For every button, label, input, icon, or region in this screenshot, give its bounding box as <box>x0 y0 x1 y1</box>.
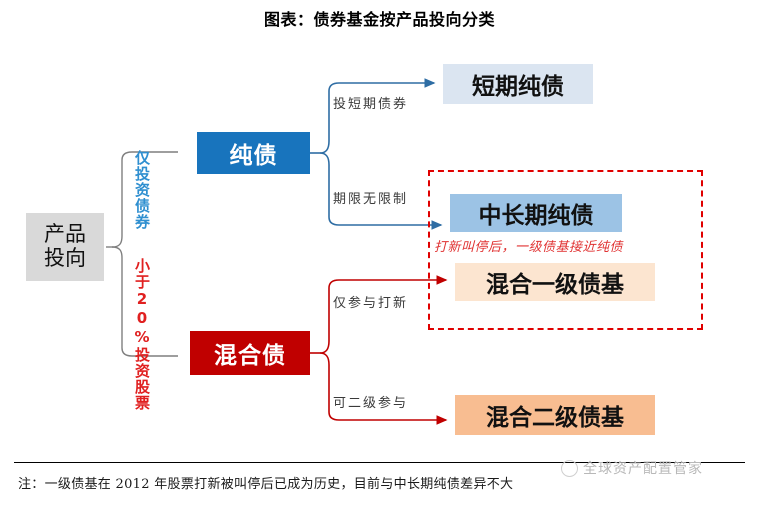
node-short-term-pure-bond[interactable]: 短期纯债 <box>443 64 593 104</box>
edge-label-ipo-participation-only: 仅参与打新 <box>333 292 408 311</box>
footnote-text: 注：一级债基在 2012 年股票打新被叫停后已成为历史，目前与中长期纯债差异不大 <box>18 473 513 492</box>
watermark: 全球资产配置管家 <box>561 458 703 478</box>
diagram-canvas: 图表：债券基金按产品投向分类 产品 投向 <box>0 0 759 506</box>
watermark-label: 全球资产配置管家 <box>583 458 703 478</box>
edge-label-bond-only: 仅投资债券 <box>132 150 153 230</box>
edge-label-equity-under-20: 小于20%投资股票 <box>132 258 153 411</box>
node-mixed-tier2-bond-fund[interactable]: 混合二级债基 <box>455 395 655 435</box>
edge-label-secondary-market-allowed: 可二级参与 <box>333 392 408 411</box>
node-mixed-bond-label: 混合债 <box>214 336 286 370</box>
node-pure-bond[interactable]: 纯债 <box>197 132 310 174</box>
node-mixed-bond[interactable]: 混合债 <box>190 331 310 375</box>
annotation-ipo-halt: 打新叫停后，一级债基接近纯债 <box>434 236 623 255</box>
edge-label-short-term-bonds: 投短期债券 <box>333 93 408 112</box>
edge-label-no-maturity-limit: 期限无限制 <box>333 188 408 207</box>
node-product-direction-label: 产品 投向 <box>44 223 86 270</box>
page-title: 图表：债券基金按产品投向分类 <box>0 6 759 30</box>
watermark-logo-icon <box>561 460 578 477</box>
node-mixed-tier2-bond-fund-label: 混合二级债基 <box>486 398 624 432</box>
node-pure-bond-label: 纯债 <box>230 136 278 170</box>
node-mixed-tier1-bond-fund-label: 混合一级债基 <box>486 265 624 299</box>
node-product-direction[interactable]: 产品 投向 <box>26 213 104 281</box>
node-mid-long-term-pure-bond-label: 中长期纯债 <box>479 196 594 230</box>
node-short-term-pure-bond-label: 短期纯债 <box>472 67 564 101</box>
node-mixed-tier1-bond-fund[interactable]: 混合一级债基 <box>455 263 655 301</box>
node-mid-long-term-pure-bond[interactable]: 中长期纯债 <box>450 194 622 232</box>
